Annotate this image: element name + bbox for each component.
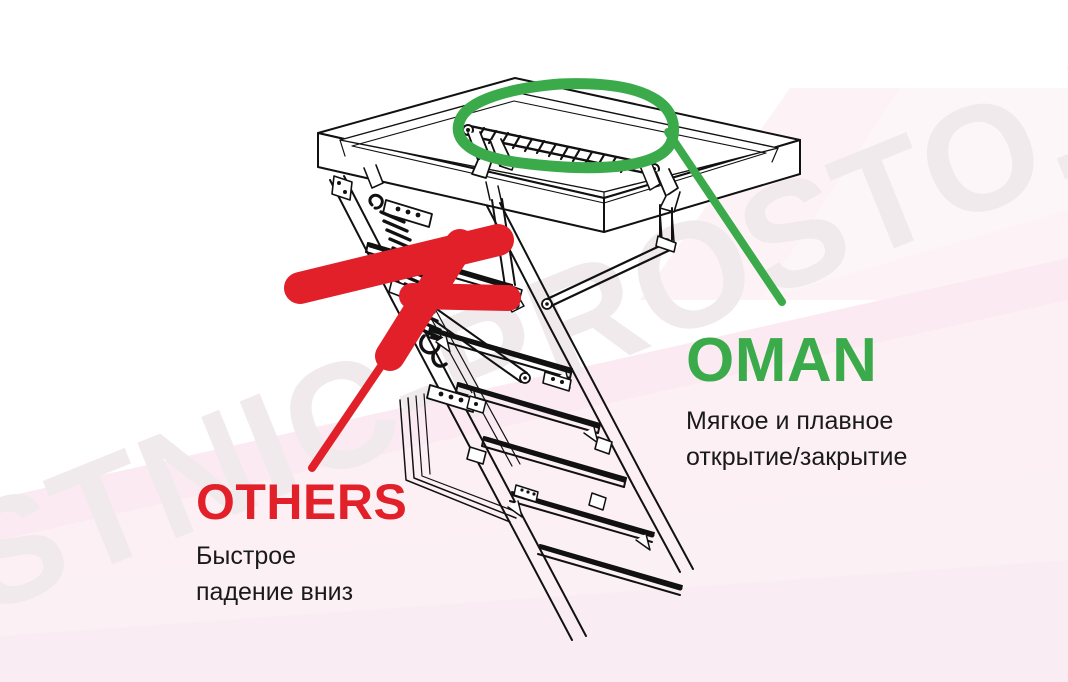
others-desc-line1: Быстрое: [196, 539, 407, 575]
red-cross-mark: [300, 240, 508, 356]
oman-title: OMAN: [686, 330, 907, 392]
others-desc-line2: падение вниз: [196, 575, 407, 611]
oman-description: Мягкое и плавное открытие/закрытие: [686, 404, 907, 475]
callout-others: OTHERS Быстрое падение вниз: [196, 477, 407, 610]
oman-desc-line1: Мягкое и плавное: [686, 404, 907, 440]
others-description: Быстрое падение вниз: [196, 539, 407, 610]
green-leader-line: [668, 132, 782, 302]
annotation-layer: [0, 0, 1068, 682]
others-title: OTHERS: [196, 477, 407, 527]
green-highlight-ellipse: [458, 84, 673, 168]
callout-oman: OMAN Мягкое и плавное открытие/закрытие: [686, 330, 907, 475]
illustration-canvas: LESTNIC-PROSTO.RU: [0, 0, 1068, 682]
oman-desc-line2: открытие/закрытие: [686, 440, 907, 476]
red-leader-line: [312, 350, 392, 468]
